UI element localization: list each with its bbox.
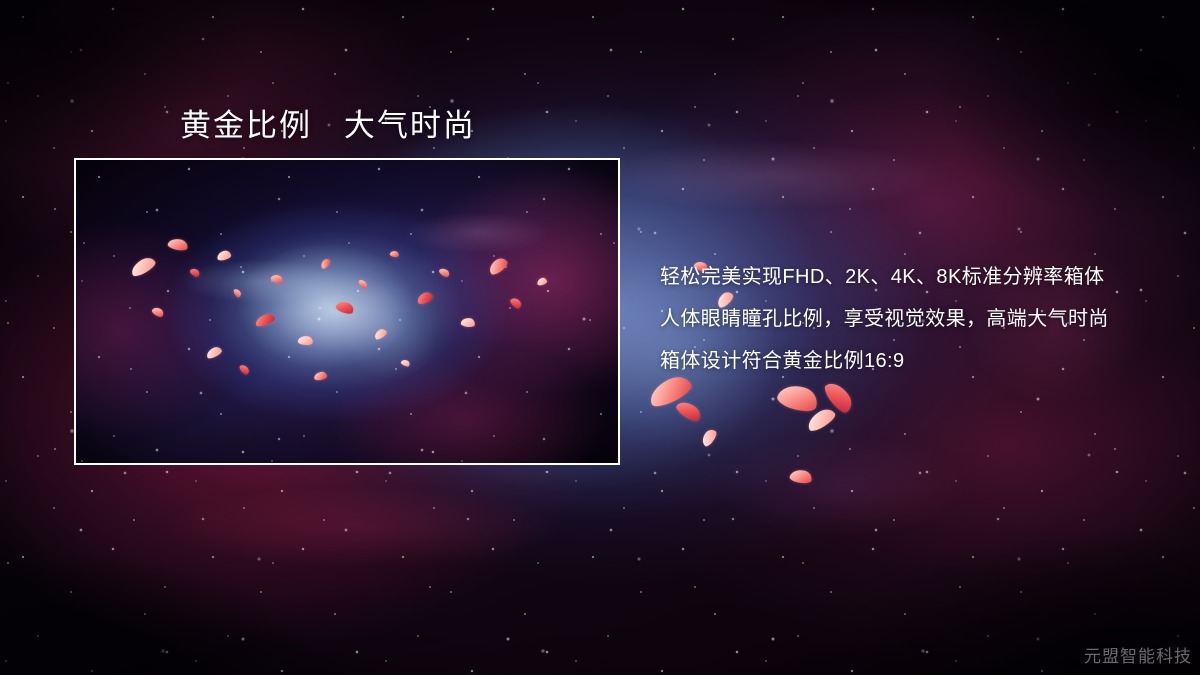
body-copy: 轻松完美实现FHD、2K、4K、8K标准分辨率箱体 人体眼睛瞳孔比例，享受视觉效… (660, 256, 1190, 382)
copy-line-2: 人体眼睛瞳孔比例，享受视觉效果，高端大气时尚 (660, 298, 1190, 340)
petal (789, 468, 813, 485)
petal (775, 380, 820, 415)
petal (804, 406, 837, 434)
watermark: 元盟智能科技 (1084, 642, 1192, 667)
preview-wisps (76, 160, 618, 463)
petal (699, 427, 719, 448)
petal (674, 398, 703, 425)
preview-image-frame (74, 158, 620, 465)
page-title: 黄金比例 大气时尚 (180, 100, 476, 145)
copy-line-3: 箱体设计符合黄金比例16:9 (660, 340, 1190, 382)
slide-canvas: 黄金比例 大气时尚 轻松完美实现FHD、2K、4K、8K标准分辨率箱体 人体眼睛… (0, 0, 1200, 675)
petal (822, 378, 857, 416)
copy-line-1: 轻松完美实现FHD、2K、4K、8K标准分辨率箱体 (660, 256, 1190, 298)
